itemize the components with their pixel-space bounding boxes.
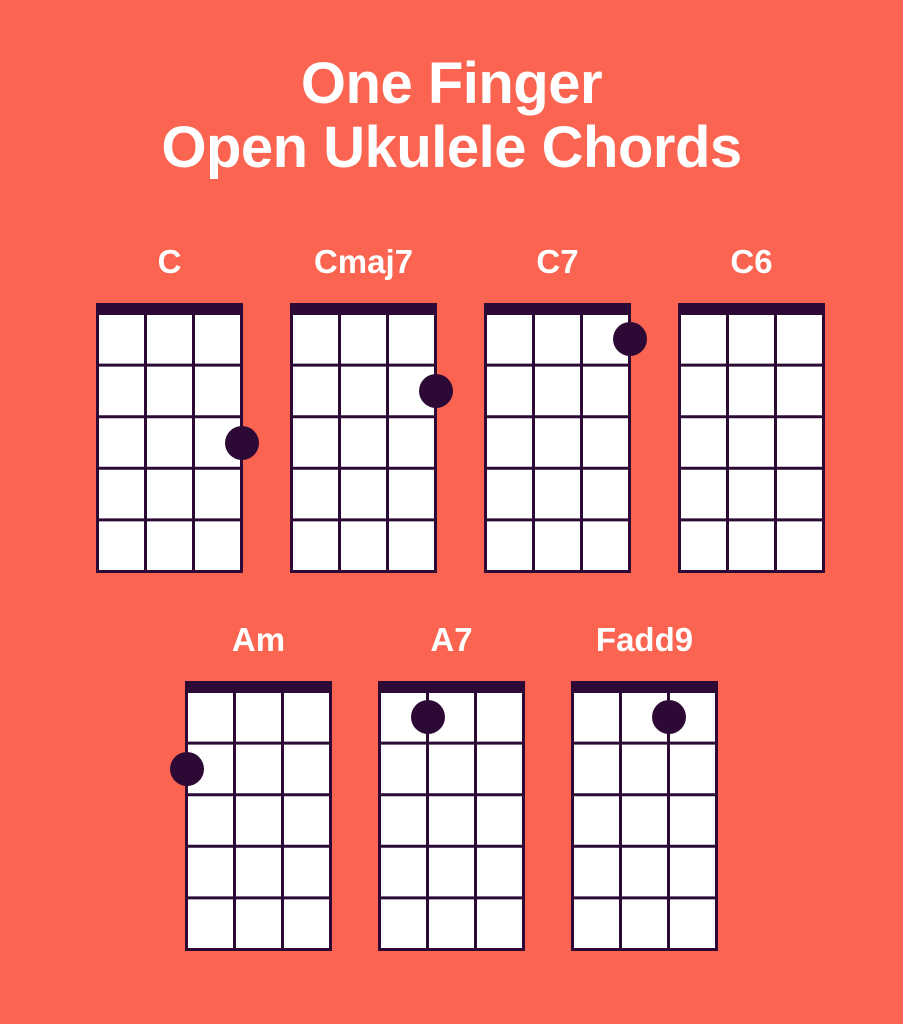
chord-card-am[interactable]: Am (185, 621, 332, 951)
chord-diagram (185, 681, 332, 951)
chord-diagram (290, 303, 437, 573)
fretboard-grid (96, 303, 243, 573)
chord-label: A7 (378, 621, 525, 659)
page-title-line-1: One Finger (0, 52, 903, 116)
chord-label: C (96, 243, 243, 281)
chord-row-1: CCmaj7C7C6 (0, 243, 903, 573)
chord-card-fadd9[interactable]: Fadd9 (571, 621, 718, 951)
fretboard-grid (678, 303, 825, 573)
chord-label: C7 (484, 243, 631, 281)
chord-card-c[interactable]: C (96, 243, 243, 573)
nut-bar (484, 303, 631, 312)
page-title-line-2: Open Ukulele Chords (0, 116, 903, 180)
chord-diagram (96, 303, 243, 573)
chord-diagram (678, 303, 825, 573)
fretboard-surface (98, 314, 242, 572)
fretboard-surface (380, 692, 524, 950)
fretboard-grid (484, 303, 631, 573)
fretboard-grid (571, 681, 718, 951)
fretboard-surface (680, 314, 824, 572)
page-title: One Finger Open Ukulele Chords (0, 0, 903, 180)
fretboard-surface (573, 692, 717, 950)
fretboard-surface (486, 314, 630, 572)
chord-diagram (484, 303, 631, 573)
nut-bar (571, 681, 718, 690)
chord-card-a7[interactable]: A7 (378, 621, 525, 951)
fretboard-surface (187, 692, 331, 950)
chord-label: Cmaj7 (290, 243, 437, 281)
chord-row-2: AmA7Fadd9 (0, 621, 903, 951)
chord-label: C6 (678, 243, 825, 281)
nut-bar (378, 681, 525, 690)
fretboard-grid (378, 681, 525, 951)
nut-bar (96, 303, 243, 312)
chord-card-cmaj7[interactable]: Cmaj7 (290, 243, 437, 573)
fretboard-grid (290, 303, 437, 573)
chord-card-c7[interactable]: C7 (484, 243, 631, 573)
fretboard-grid (185, 681, 332, 951)
nut-bar (185, 681, 332, 690)
nut-bar (290, 303, 437, 312)
chord-diagram (378, 681, 525, 951)
fretboard-surface (292, 314, 436, 572)
nut-bar (678, 303, 825, 312)
chord-label: Fadd9 (571, 621, 718, 659)
chord-label: Am (185, 621, 332, 659)
chord-diagram (571, 681, 718, 951)
chord-card-c6[interactable]: C6 (678, 243, 825, 573)
